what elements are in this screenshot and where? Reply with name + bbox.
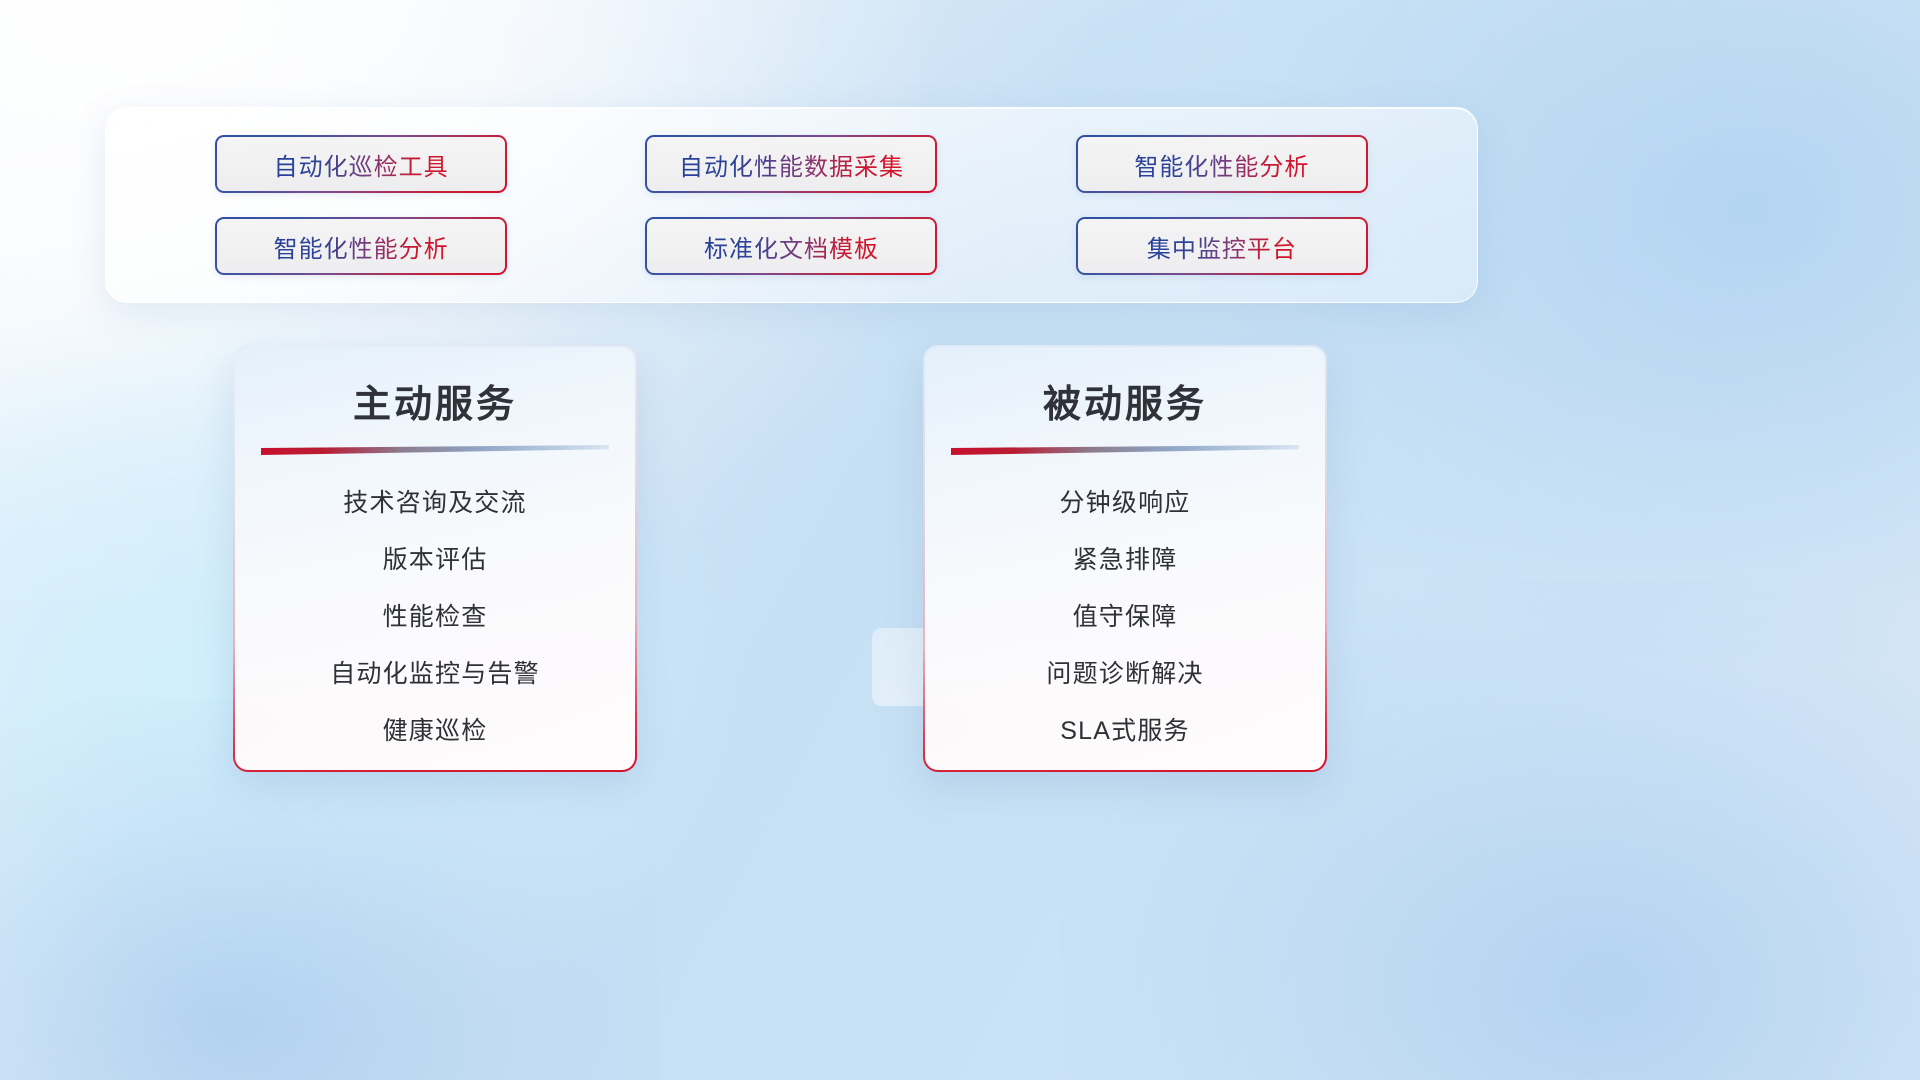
capability-chip-3[interactable]: 智能化性能分析: [1076, 135, 1368, 193]
capability-chip-label: 智能化性能分析: [274, 229, 449, 264]
card-list-item: 自动化监控与告警: [330, 646, 540, 703]
chip-surface: 智能化性能分析: [1078, 137, 1366, 191]
capability-chip-label: 标准化文档模板: [704, 229, 879, 264]
capability-chip-label: 智能化性能分析: [1134, 147, 1309, 182]
capability-chip-5[interactable]: 标准化文档模板: [645, 217, 937, 275]
card-list-item: 紧急排障: [1073, 532, 1178, 589]
service-card-passive[interactable]: 被动服务: [923, 345, 1327, 772]
chip-surface: 智能化性能分析: [217, 219, 505, 273]
card-divider: [261, 445, 609, 458]
capability-chip-1[interactable]: 自动化巡检工具: [215, 135, 507, 193]
card-list-item: 版本评估: [383, 532, 488, 589]
card-item-list: 技术咨询及交流 版本评估 性能检查 自动化监控与告警 健康巡检: [235, 475, 635, 760]
capability-chip-label: 集中监控平台: [1147, 229, 1297, 264]
capability-chip-4[interactable]: 智能化性能分析: [215, 217, 507, 275]
chip-surface: 自动化性能数据采集: [647, 137, 935, 191]
capability-chip-2[interactable]: 自动化性能数据采集: [645, 135, 937, 193]
chip-surface: 标准化文档模板: [647, 219, 935, 273]
card-list-item: 性能检查: [383, 589, 488, 646]
card-list-item: 技术咨询及交流: [343, 475, 526, 532]
chip-surface: 集中监控平台: [1078, 219, 1366, 273]
capability-chip-6[interactable]: 集中监控平台: [1076, 217, 1368, 275]
card-list-item: SLA式服务: [1060, 703, 1189, 760]
card-surface: 主动服务: [235, 347, 635, 770]
card-title: 主动服务: [353, 373, 517, 428]
service-card-active[interactable]: 主动服务: [233, 345, 637, 772]
card-item-list: 分钟级响应 紧急排障 值守保障 问题诊断解决 SLA式服务: [925, 475, 1325, 760]
card-list-item: 分钟级响应: [1059, 475, 1190, 532]
capability-chip-label: 自动化巡检工具: [274, 147, 449, 182]
card-divider: [951, 445, 1299, 458]
card-title: 被动服务: [1043, 373, 1207, 428]
capabilities-panel: 自动化巡检工具 自动化性能数据采集 智能化性能分析 智能化性能分析 标准化文档模…: [105, 107, 1478, 303]
card-list-item: 健康巡检: [383, 703, 488, 760]
card-surface: 被动服务: [925, 347, 1325, 770]
chip-surface: 自动化巡检工具: [217, 137, 505, 191]
card-list-item: 值守保障: [1073, 589, 1178, 646]
card-list-item: 问题诊断解决: [1046, 646, 1203, 703]
capability-chip-label: 自动化性能数据采集: [679, 147, 904, 182]
slide-canvas: 自动化巡检工具 自动化性能数据采集 智能化性能分析 智能化性能分析 标准化文档模…: [0, 0, 1920, 1080]
